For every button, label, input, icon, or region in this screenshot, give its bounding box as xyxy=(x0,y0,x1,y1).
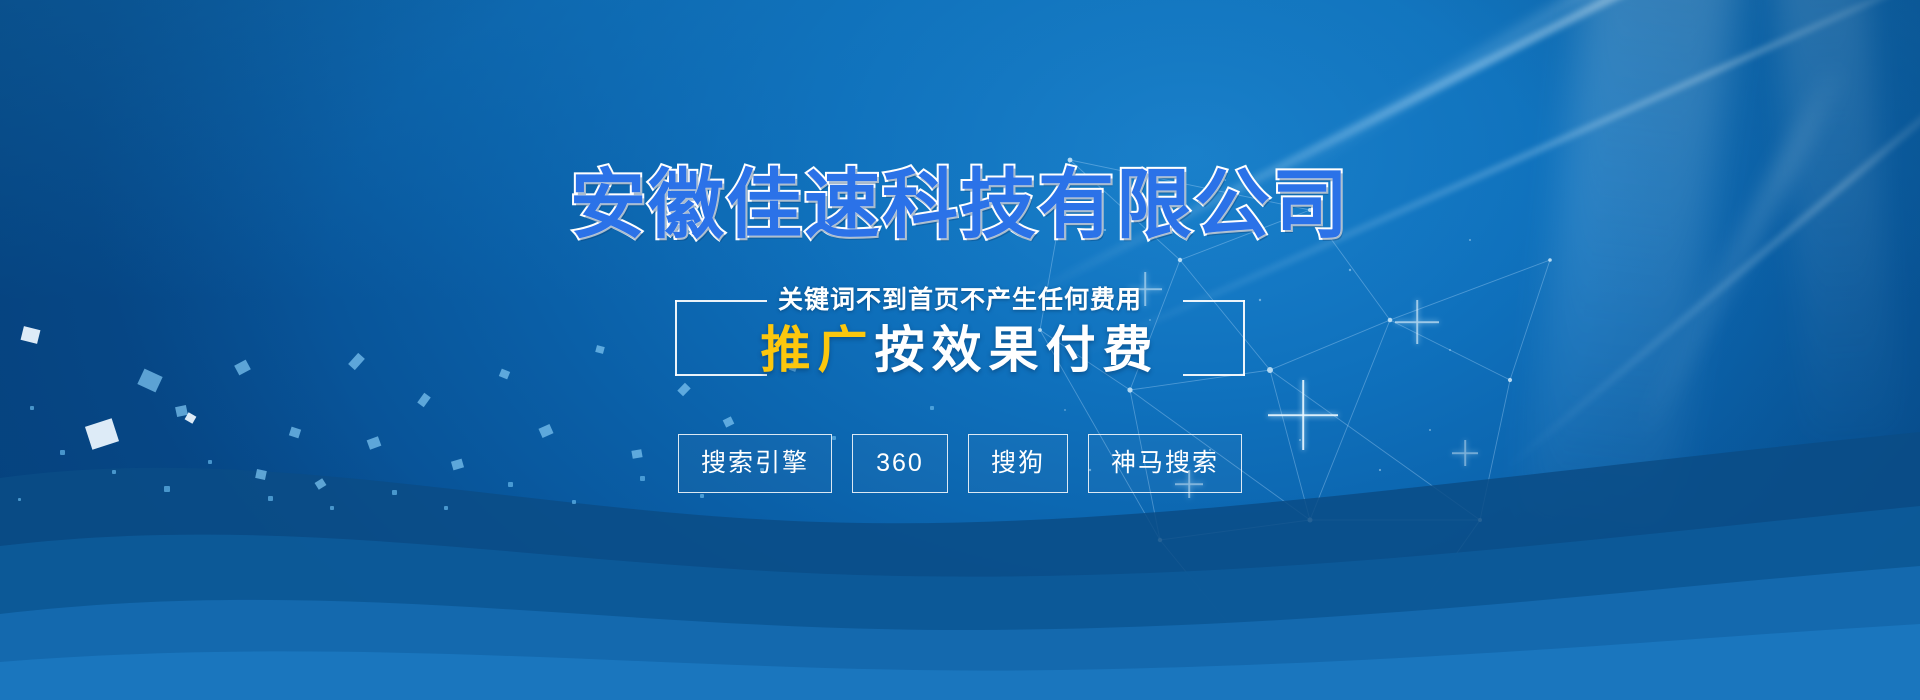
hero-banner: 安徽佳速科技有限公司 关键词不到首页不产生任何费用 推广按效果付费 搜索引擎 3… xyxy=(0,0,1920,700)
slogan-block: 关键词不到首页不产生任何费用 推广按效果付费 xyxy=(675,276,1245,394)
main-slogan-highlight: 推广 xyxy=(761,322,875,378)
search-engine-chip-1[interactable]: 搜索引擎 xyxy=(678,434,832,493)
main-slogan: 推广按效果付费 xyxy=(675,320,1245,380)
search-engine-chip-4[interactable]: 神马搜索 xyxy=(1088,434,1242,493)
search-engine-chip-2[interactable]: 360 xyxy=(852,434,948,493)
search-engine-chip-row: 搜索引擎 360 搜狗 神马搜索 xyxy=(678,434,1242,493)
banner-content: 安徽佳速科技有限公司 关键词不到首页不产生任何费用 推广按效果付费 搜索引擎 3… xyxy=(0,0,1920,700)
sub-headline: 关键词不到首页不产生任何费用 xyxy=(675,284,1245,316)
main-slogan-rest: 按效果付费 xyxy=(875,322,1160,378)
search-engine-chip-3[interactable]: 搜狗 xyxy=(968,434,1068,493)
page-title: 安徽佳速科技有限公司 xyxy=(570,168,1350,244)
